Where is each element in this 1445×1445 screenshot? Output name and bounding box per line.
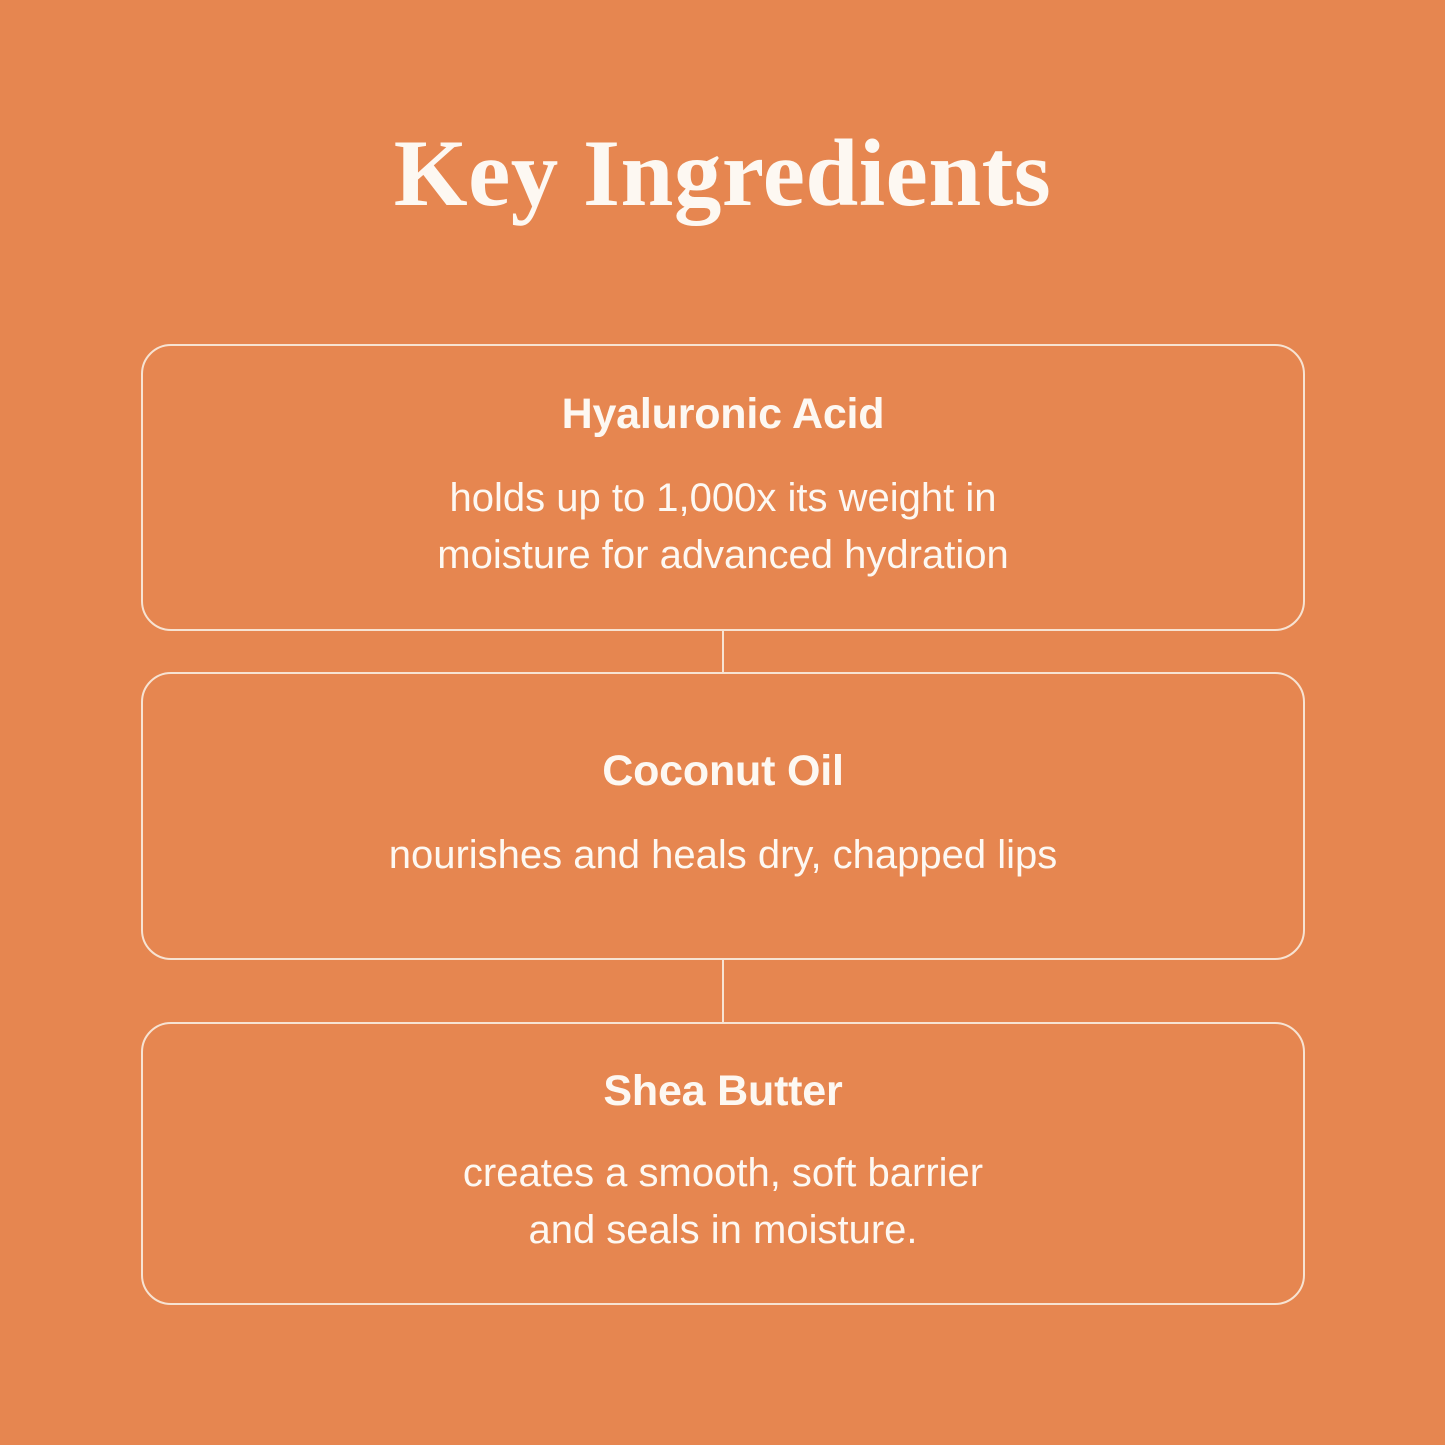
page-title: Key Ingredients [0, 126, 1445, 221]
card-connector-1-2 [141, 631, 1305, 672]
ingredient-description: nourishes and heals dry, chapped lips [389, 827, 1058, 884]
ingredient-name: Hyaluronic Acid [562, 391, 885, 438]
ingredient-card-shea-butter: Shea Butter creates a smooth, soft barri… [141, 1022, 1305, 1305]
card-connector-2-3 [141, 960, 1305, 1022]
ingredient-name: Shea Butter [603, 1068, 842, 1115]
key-ingredients-poster: Key Ingredients Hyaluronic Acid holds up… [0, 0, 1445, 1445]
connector-line-icon [722, 631, 724, 672]
connector-line-icon [722, 960, 724, 1022]
ingredient-name: Coconut Oil [602, 748, 843, 795]
ingredient-card-hyaluronic-acid: Hyaluronic Acid holds up to 1,000x its w… [141, 344, 1305, 631]
ingredient-description: creates a smooth, soft barrier and seals… [463, 1145, 983, 1259]
ingredient-card-stack: Hyaluronic Acid holds up to 1,000x its w… [141, 344, 1305, 1305]
ingredient-description: holds up to 1,000x its weight in moistur… [437, 470, 1008, 584]
ingredient-card-coconut-oil: Coconut Oil nourishes and heals dry, cha… [141, 672, 1305, 960]
